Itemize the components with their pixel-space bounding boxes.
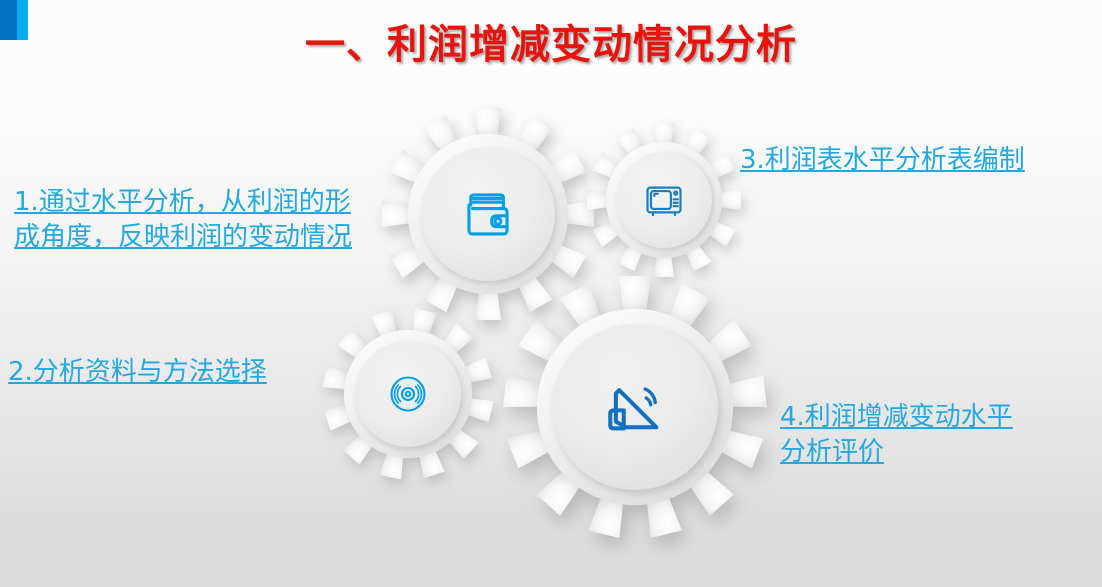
callout-text-1[interactable]: 1.通过水平分析，从利润的形成角度，反映利润的变动情况 xyxy=(14,185,374,254)
callout-text-3[interactable]: 3.利润表水平分析表编制 xyxy=(740,143,1090,178)
callout-text-2[interactable]: 2.分析资料与方法选择 xyxy=(8,355,328,390)
page-title: 一、利润增减变动情况分析 xyxy=(0,12,1102,70)
gear-television[interactable] xyxy=(584,120,744,280)
gear-speaker[interactable] xyxy=(500,272,770,542)
callout-text-4[interactable]: 4.利润增减变动水平分析评价 xyxy=(780,400,1030,469)
slide-canvas: 一、利润增减变动情况分析 xyxy=(0,0,1102,587)
gear-compact-disc[interactable] xyxy=(320,306,496,482)
